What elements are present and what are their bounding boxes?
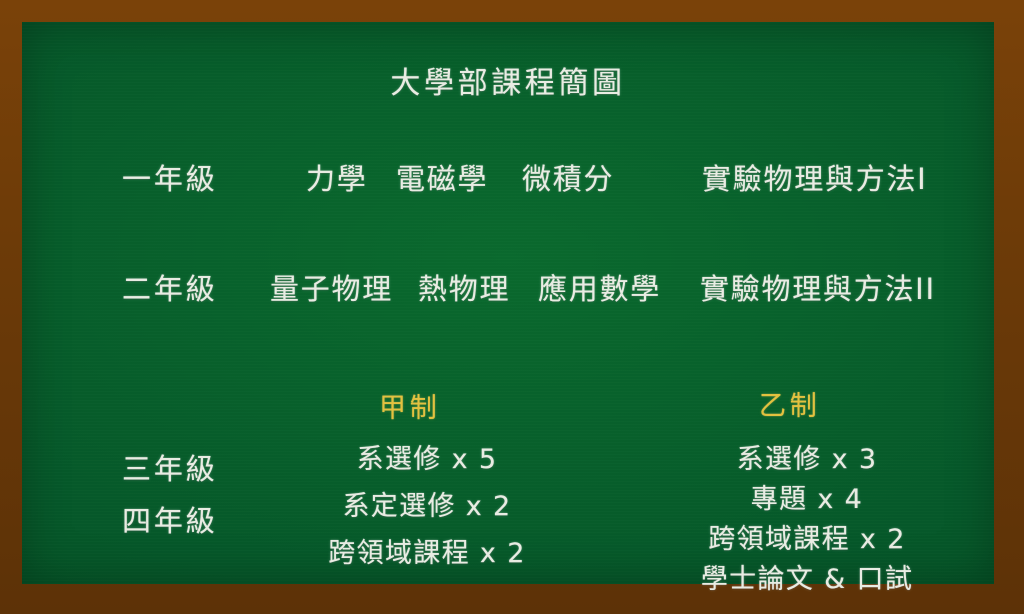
year-label-1: 一年級 [122, 156, 218, 198]
track-jia-item: 跨領域課程 x 2 [328, 540, 525, 567]
track-yi-item: 跨領域課程 x 2 [708, 526, 905, 553]
year-label-2: 二年級 [122, 266, 218, 308]
track-jia-item: 系選修 x 5 [357, 446, 498, 473]
track-yi-item: 學士論文 & 口試 [701, 566, 913, 593]
track-yi-item: 專題 x 4 [751, 486, 863, 513]
track-jia-item: 系定選修 x 2 [342, 493, 511, 520]
track-heading-yi: 乙制 [759, 384, 821, 423]
year-label-4: 四年級 [122, 498, 218, 540]
course-y2-experimental-physics-2: 實驗物理與方法II [700, 266, 936, 308]
course-y1-calculus: 微積分 [522, 156, 614, 198]
track-jia-requirements: 系選修 x 5 系定選修 x 2 跨領域課程 x 2 [262, 446, 592, 587]
track-yi-requirements: 系選修 x 3 專題 x 4 跨領域課程 x 2 學士論文 & 口試 [652, 446, 962, 606]
chalkboard-screenshot: 大學部課程簡圖 一年級 力學 電磁學 微積分 實驗物理與方法I 二年級 量子物理… [0, 0, 1024, 614]
track-yi-item: 系選修 x 3 [737, 446, 878, 473]
course-y2-thermal-physics: 熱物理 [418, 266, 510, 308]
course-y1-electromagnetism: 電磁學 [396, 156, 488, 198]
chalkboard-surface: 大學部課程簡圖 一年級 力學 電磁學 微積分 實驗物理與方法I 二年級 量子物理… [22, 22, 994, 584]
page-title: 大學部課程簡圖 [22, 58, 994, 102]
course-y1-experimental-physics-1: 實驗物理與方法I [702, 156, 927, 198]
course-y2-applied-mathematics: 應用數學 [538, 266, 661, 308]
track-heading-jia: 甲制 [379, 386, 441, 425]
course-y2-quantum-physics: 量子物理 [270, 266, 393, 308]
course-y1-mechanics: 力學 [306, 156, 367, 198]
year-label-3: 三年級 [122, 446, 218, 488]
